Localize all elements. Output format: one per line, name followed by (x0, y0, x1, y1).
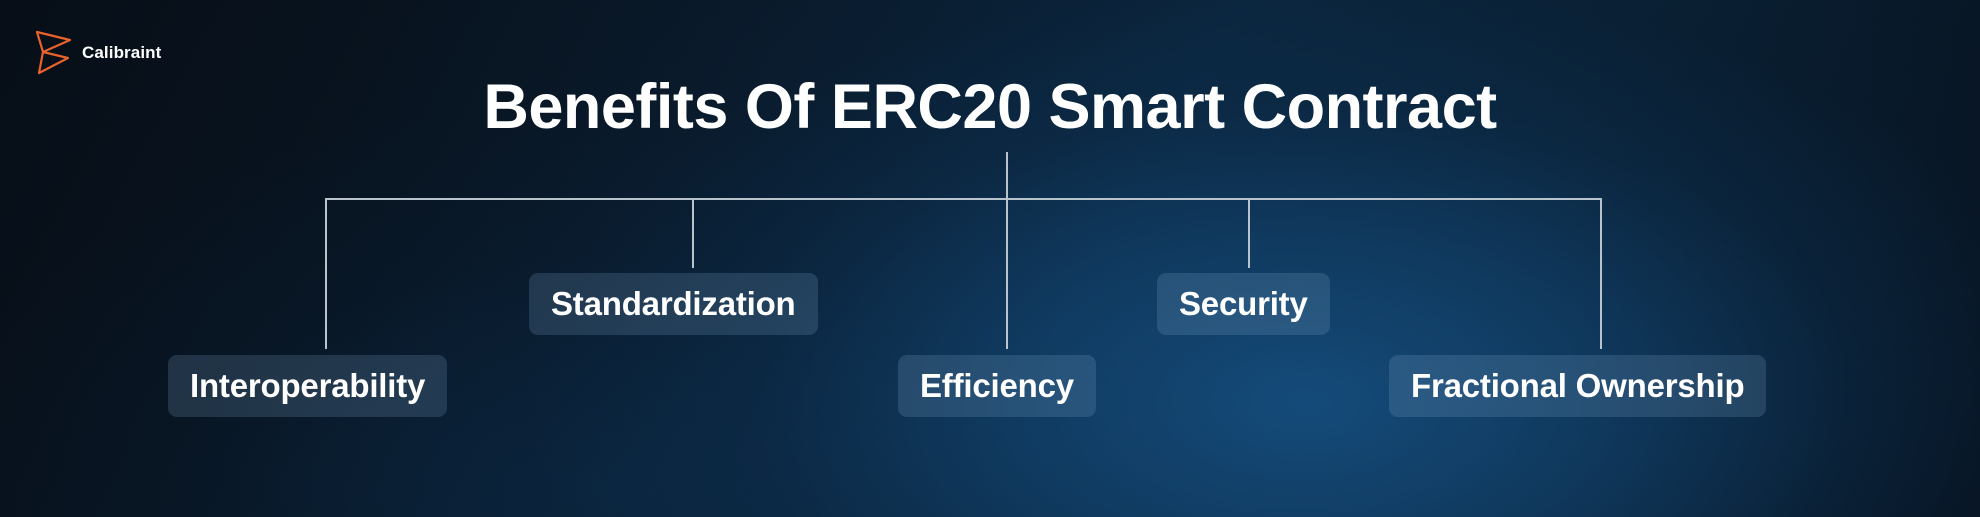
node-label: Efficiency (920, 367, 1074, 405)
connector-horizontal-bar (325, 198, 1602, 200)
node-fractional-ownership[interactable]: Fractional Ownership (1389, 355, 1766, 417)
node-interoperability[interactable]: Interoperability (168, 355, 447, 417)
connector-drop-standardization (692, 198, 694, 268)
node-label: Fractional Ownership (1411, 367, 1744, 405)
connector-stem-center (1006, 152, 1008, 349)
connector-drop-interoperability (325, 198, 327, 349)
node-label: Standardization (551, 285, 796, 323)
brand-name: Calibraint (82, 44, 161, 61)
node-standardization[interactable]: Standardization (529, 273, 818, 335)
node-security[interactable]: Security (1157, 273, 1330, 335)
calibraint-z-mark-icon (34, 28, 74, 76)
node-label: Interoperability (190, 367, 425, 405)
connector-drop-security (1248, 198, 1250, 268)
page-title: Benefits Of ERC20 Smart Contract (0, 74, 1980, 140)
brand-logo[interactable]: Calibraint (34, 28, 161, 76)
connector-drop-fractional-ownership (1600, 198, 1602, 349)
node-efficiency[interactable]: Efficiency (898, 355, 1096, 417)
slide-canvas: Calibraint Benefits Of ERC20 Smart Contr… (0, 0, 1980, 517)
node-label: Security (1179, 285, 1308, 323)
